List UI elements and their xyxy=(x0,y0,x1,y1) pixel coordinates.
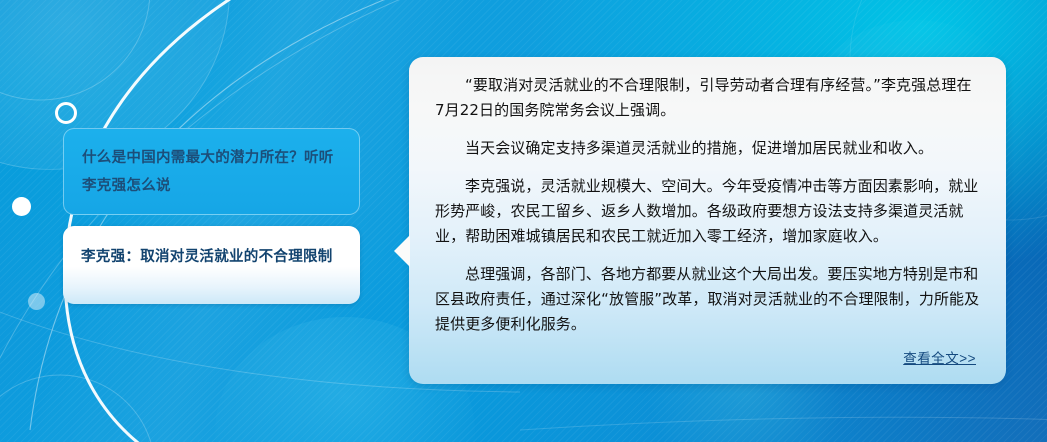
infographic-banner: 什么是中国内需最大的潜力所在？听听李克强怎么说 李克强：取消对灵活就业的不合理限… xyxy=(0,0,1047,442)
timeline-marker-faded-icon[interactable] xyxy=(28,293,45,310)
headline-item-active[interactable]: 李克强：取消对灵活就业的不合理限制 xyxy=(63,226,360,304)
article-paragraph: “要取消对灵活就业的不合理限制，引导劳动者合理有序经营。”李克强总理在7月22日… xyxy=(435,73,980,123)
timeline-marker-solid-icon[interactable] xyxy=(12,197,31,216)
article-body: “要取消对灵活就业的不合理限制，引导劳动者合理有序经营。”李克强总理在7月22日… xyxy=(435,73,980,350)
timeline-marker-ring-icon[interactable] xyxy=(55,102,77,124)
article-paragraph: 当天会议确定支持多渠道灵活就业的措施，促进增加居民就业和收入。 xyxy=(435,136,980,161)
headline-list: 什么是中国内需最大的潜力所在？听听李克强怎么说 李克强：取消对灵活就业的不合理限… xyxy=(63,128,360,304)
panel-pointer-arrow-icon xyxy=(394,235,410,267)
article-panel: “要取消对灵活就业的不合理限制，引导劳动者合理有序经营。”李克强总理在7月22日… xyxy=(409,57,1006,384)
article-paragraph: 总理强调，各部门、各地方都要从就业这个大局出发。要压实地方特别是市和区县政府责任… xyxy=(435,262,980,337)
headline-item-label: 李克强：取消对灵活就业的不合理限制 xyxy=(81,241,342,271)
headline-item-label: 什么是中国内需最大的潜力所在？听听李克强怎么说 xyxy=(82,150,334,194)
headline-item-inactive[interactable]: 什么是中国内需最大的潜力所在？听听李克强怎么说 xyxy=(63,128,360,215)
article-paragraph: 李克强说，灵活就业规模大、空间大。今年受疫情冲击等方面因素影响，就业形势严峻，农… xyxy=(435,174,980,249)
read-full-article-link[interactable]: 查看全文>> xyxy=(903,347,976,367)
